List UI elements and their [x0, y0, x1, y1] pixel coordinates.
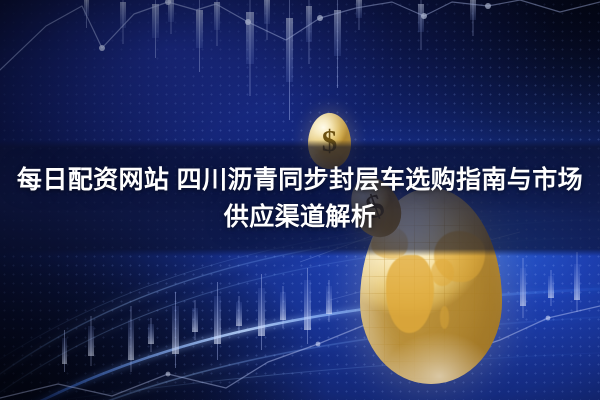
candlesticks-top [84, 0, 476, 120]
zigzag-line-bottom [0, 306, 600, 398]
headline-text: 每日配资网站 四川沥青同步封层车选购指南与市场供应渠道解析 [0, 162, 600, 236]
banner-image: $ $ 每日配资网站 四川沥青同步封层车选购指南与市场供应渠道解析 [0, 0, 600, 400]
zigzag-line-top [0, 0, 600, 70]
candlesticks-bottom [62, 252, 580, 372]
